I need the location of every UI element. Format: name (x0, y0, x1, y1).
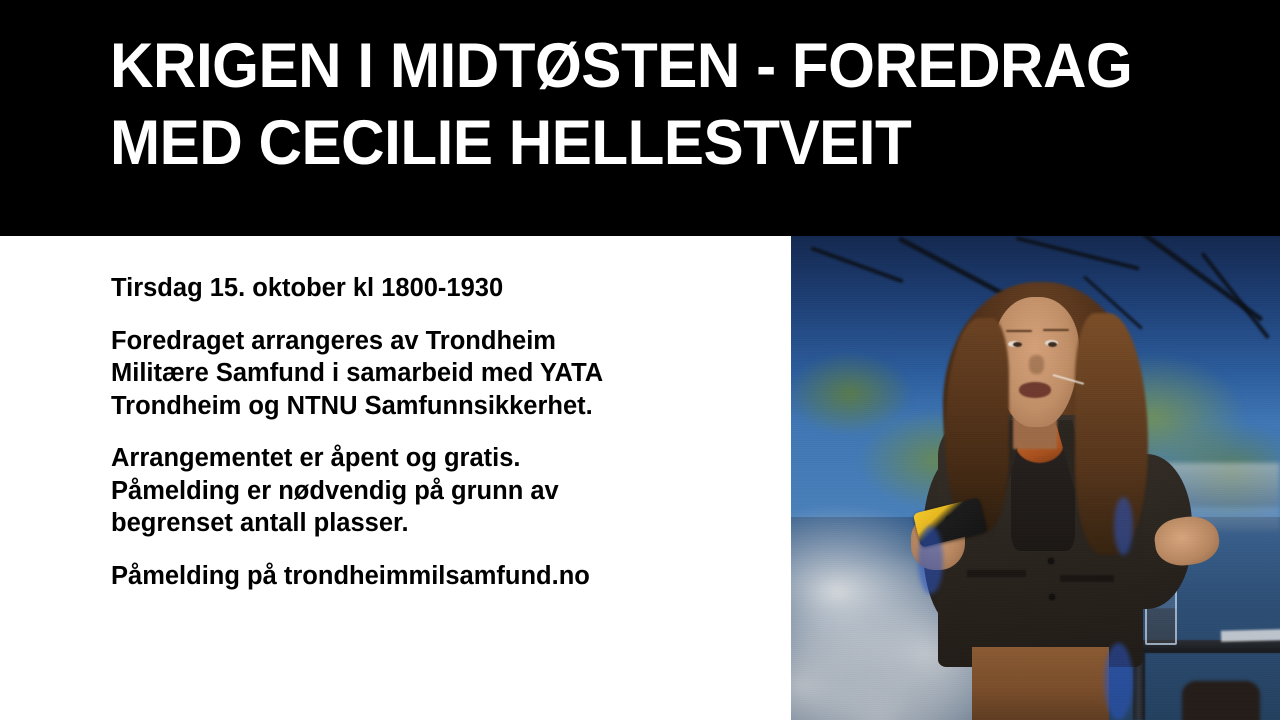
title-band: KRIGEN I MIDTØSTEN - FOREDRAG MED CECILI… (0, 0, 1280, 236)
paragraph-registration: Arrangementet er åpent og gratis. Påmeld… (111, 442, 681, 540)
paragraph-datetime: Tirsdag 15. oktober kl 1800-1930 (111, 272, 681, 305)
rim-light (918, 526, 942, 594)
hair-right-strand (1075, 313, 1148, 555)
eyebrow-right (1043, 329, 1068, 331)
rim-light (1104, 643, 1133, 720)
paragraph-signup-url: Påmelding på trondheimmilsamfund.no (111, 560, 681, 593)
presentation-slide: KRIGEN I MIDTØSTEN - FOREDRAG MED CECILI… (0, 0, 1280, 720)
photo-inner (791, 236, 1280, 720)
mouth (1019, 382, 1051, 397)
page-title: KRIGEN I MIDTØSTEN - FOREDRAG MED CECILI… (110, 28, 1161, 182)
jacket-button (1048, 558, 1054, 564)
skirt (972, 647, 1109, 720)
eye-right (1048, 342, 1057, 347)
jacket-pocket (967, 570, 1026, 577)
eyebrow-left (1006, 330, 1031, 332)
speaker-figure (791, 236, 1280, 720)
nose (1029, 355, 1045, 374)
speaker-photo (791, 236, 1280, 720)
body-text-column: Tirsdag 15. oktober kl 1800-1930 Foredra… (111, 272, 681, 592)
paragraph-organizers: Foredraget arrangeres av Trondheim Milit… (111, 325, 681, 423)
jacket-pocket (1060, 575, 1114, 582)
